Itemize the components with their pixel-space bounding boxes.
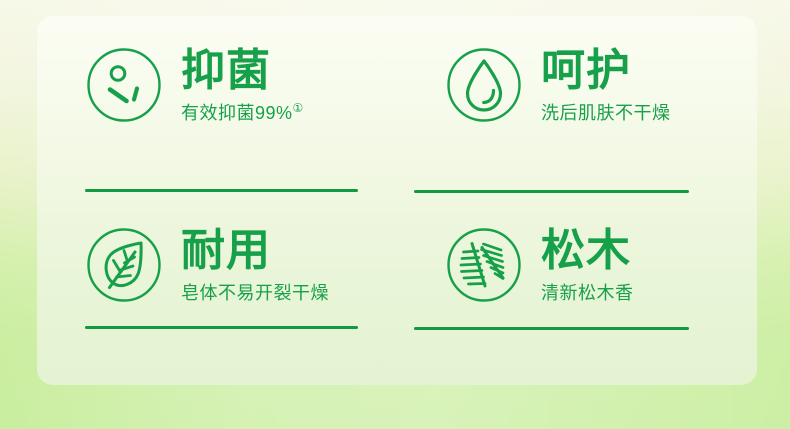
product-feature-banner: 抑菌 有效抑菌99%① 呵护 (0, 0, 790, 429)
feature-subtitle: 有效抑菌99%① (181, 102, 304, 124)
feature-item-pinewood: 松木 清新松木香 (397, 201, 757, 386)
feature-title: 耐用 (181, 226, 329, 276)
feature-footnote-marker: ① (293, 101, 304, 115)
feature-item-durable: 耐用 皂体不易开裂干燥 (37, 201, 397, 386)
feature-subtitle: 清新松木香 (541, 282, 634, 304)
water-droplet-icon (445, 46, 523, 124)
feature-title: 抑菌 (181, 46, 304, 96)
feature-card: 抑菌 有效抑菌99%① 呵护 (37, 16, 757, 385)
feature-text-durable: 耐用 皂体不易开裂干燥 (181, 224, 329, 304)
divider-bottom-left (85, 326, 358, 329)
pine-branch-icon (445, 226, 523, 304)
feature-text-antibacterial: 抑菌 有效抑菌99%① (181, 44, 304, 124)
feature-text-pinewood: 松木 清新松木香 (541, 224, 634, 304)
divider-top-right (414, 190, 689, 193)
feature-subtitle: 洗后肌肤不干燥 (541, 102, 671, 124)
feature-item-antibacterial: 抑菌 有效抑菌99%① (37, 16, 397, 201)
feature-subtitle-text: 清新松木香 (541, 283, 634, 303)
feature-title: 松木 (541, 226, 634, 276)
leaf-icon (85, 226, 163, 304)
divider-top-left (85, 189, 358, 192)
feature-subtitle: 皂体不易开裂干燥 (181, 282, 329, 304)
feature-subtitle-text: 皂体不易开裂干燥 (181, 283, 329, 303)
feature-title: 呵护 (541, 46, 671, 96)
feature-item-care: 呵护 洗后肌肤不干燥 (397, 16, 757, 201)
divider-bottom-right (414, 327, 689, 330)
antibacterial-germ-icon (85, 46, 163, 124)
feature-text-care: 呵护 洗后肌肤不干燥 (541, 44, 671, 124)
feature-subtitle-text: 洗后肌肤不干燥 (541, 103, 671, 123)
feature-subtitle-text: 有效抑菌99% (181, 103, 293, 123)
